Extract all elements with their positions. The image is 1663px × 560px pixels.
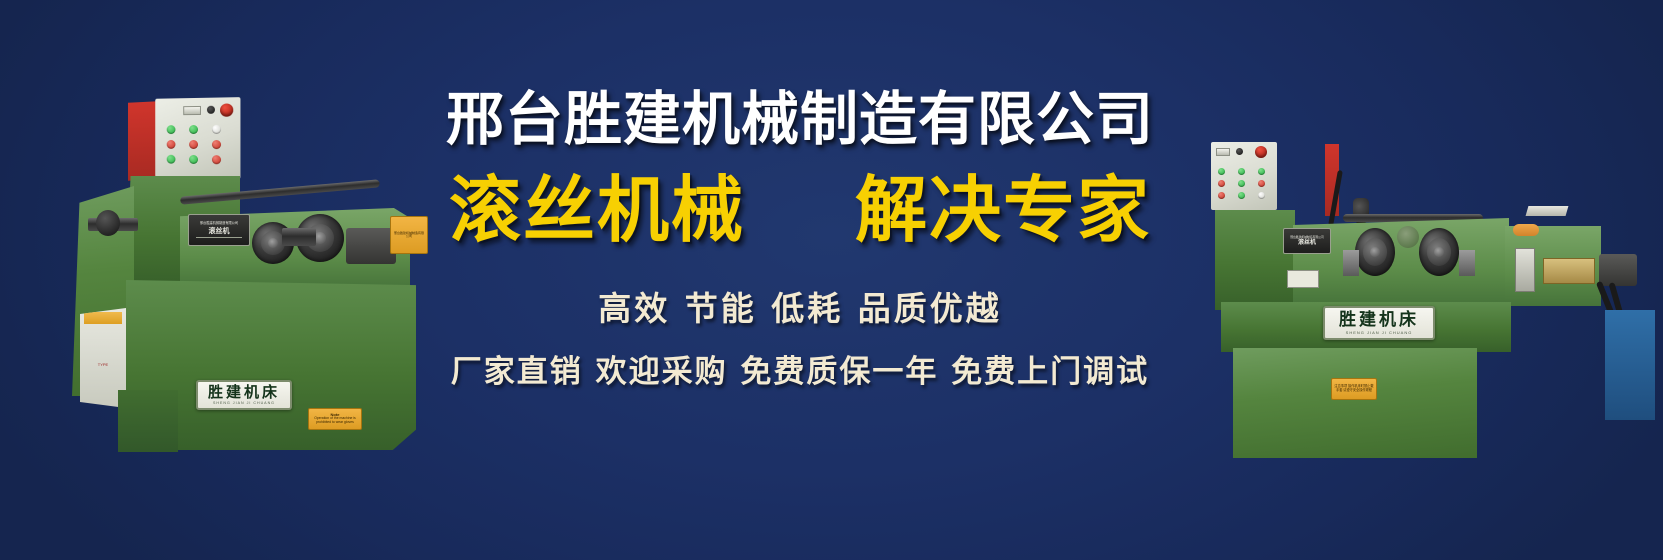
emergency-stop-button-right bbox=[1255, 146, 1267, 158]
panel-button-left bbox=[212, 125, 221, 134]
panel-button-right bbox=[1238, 180, 1245, 187]
machine-lubricant-manifold-right bbox=[1513, 224, 1539, 236]
panel-button-right bbox=[1218, 180, 1225, 187]
emergency-stop-button-left bbox=[220, 103, 233, 116]
hydraulic-tank-right bbox=[1605, 310, 1655, 420]
panel-button-right bbox=[1238, 168, 1245, 175]
machine-tool-tray-right bbox=[1526, 206, 1569, 216]
spec-plate-title-right: 滚丝机 bbox=[1298, 240, 1316, 246]
control-panel-backing-left bbox=[128, 101, 158, 181]
banner-text-block: 邢台胜建机械制造有限公司 滚丝机械 解决专家 高效 节能 低耗 品质优越 厂家直… bbox=[400, 88, 1200, 391]
panel-knob-left bbox=[207, 106, 215, 114]
panel-button-left bbox=[167, 125, 176, 134]
panel-meter-right bbox=[1216, 148, 1230, 156]
machine-base-right bbox=[1233, 348, 1477, 458]
machine-lower-skirt-left bbox=[118, 390, 178, 452]
machine-image-left: 邢台胜建机械制造有限公司 滚丝机 邢台胜建机械制造有限公司 TYPE 胜建机床 … bbox=[30, 90, 430, 490]
panel-knob-right bbox=[1236, 148, 1243, 155]
nameplate-cn-right: 胜建机床 bbox=[1339, 312, 1419, 329]
panel-button-right bbox=[1218, 192, 1225, 199]
warning-label-right: 注意事项 操作机床时禁止戴手套 请遵守安全操作规程 bbox=[1331, 378, 1377, 400]
spec-plate-right: 邢台胜建机械制造有限公司 滚丝机 bbox=[1283, 228, 1331, 254]
panel-button-left bbox=[167, 140, 176, 149]
machine-center-gear-right bbox=[1397, 226, 1419, 248]
panel-button-left bbox=[189, 155, 198, 164]
side-cabinet-text-left: TYPE bbox=[86, 362, 120, 367]
panel-button-right bbox=[1218, 168, 1225, 175]
control-panel-right bbox=[1211, 142, 1277, 210]
promotional-banner: 邢台胜建机械制造有限公司 滚丝机 邢台胜建机械制造有限公司 TYPE 胜建机床 … bbox=[0, 0, 1663, 560]
machine-motor-right bbox=[1599, 254, 1637, 286]
warning-label-text-left: Operation of the machine is prohibited t… bbox=[311, 417, 359, 425]
spec-plate-company-right: 邢台胜建机械制造有限公司 bbox=[1290, 236, 1324, 239]
spec-plate-title-left: 滚丝机 bbox=[209, 228, 230, 235]
nameplate-en-left: SHENG JIAN JI CHUANG bbox=[213, 402, 275, 406]
machine-fixture-right bbox=[1515, 248, 1535, 292]
warning-label-text-right: 注意事项 操作机床时禁止戴手套 请遵守安全操作规程 bbox=[1334, 385, 1374, 392]
panel-button-left bbox=[189, 140, 198, 149]
subline-benefits: 高效 节能 低耗 品质优越 bbox=[400, 282, 1200, 330]
panel-button-left bbox=[167, 155, 176, 164]
panel-meter-left bbox=[183, 106, 201, 115]
spec-plate-left: 邢台胜建机械制造有限公司 滚丝机 bbox=[188, 214, 250, 246]
roller-die-right-1 bbox=[1355, 228, 1395, 276]
machine-column-right bbox=[1215, 210, 1295, 310]
company-name: 邢台胜建机械制造有限公司 bbox=[400, 88, 1200, 151]
machine-motor-left bbox=[346, 228, 396, 264]
panel-button-right bbox=[1258, 192, 1265, 199]
headline-right: 解决专家 bbox=[855, 173, 1151, 249]
roller-die-right-2 bbox=[1419, 228, 1459, 276]
spec-plate-secondary-right bbox=[1287, 270, 1319, 288]
subline-services: 厂家直销 欢迎采购 免费质保一年 免费上门调试 bbox=[400, 346, 1200, 391]
panel-button-right bbox=[1258, 168, 1265, 175]
control-panel-left bbox=[155, 97, 240, 179]
panel-button-left bbox=[212, 155, 221, 164]
machine-brass-plate-right bbox=[1543, 258, 1595, 284]
headline-row: 滚丝机械 解决专家 bbox=[400, 173, 1200, 249]
panel-button-right bbox=[1238, 192, 1245, 199]
machine-rear-pulley-left bbox=[96, 210, 120, 236]
machine-center-shaft-left bbox=[282, 228, 316, 246]
machine-guide-block-right-2 bbox=[1459, 250, 1475, 276]
headline-left: 滚丝机械 bbox=[449, 173, 745, 249]
panel-button-left bbox=[189, 125, 198, 134]
panel-button-right bbox=[1258, 180, 1265, 187]
nameplate-left: 胜建机床 SHENG JIAN JI CHUANG bbox=[196, 380, 292, 410]
machine-image-right: 邢台胜建机械制造有限公司 滚丝机 胜建机床 SHENG JIAN JI CHUA… bbox=[1175, 130, 1655, 460]
nameplate-right: 胜建机床 SHENG JIAN JI CHUANG bbox=[1323, 306, 1435, 340]
spec-plate-rule-left bbox=[196, 237, 242, 238]
panel-button-left bbox=[212, 140, 221, 149]
nameplate-en-right: SHENG JIAN JI CHUANG bbox=[1346, 331, 1413, 335]
side-cabinet-label-strip-left bbox=[84, 312, 122, 324]
spec-plate-company-left: 邢台胜建机械制造有限公司 bbox=[200, 222, 238, 225]
nameplate-cn-left: 胜建机床 bbox=[208, 385, 280, 400]
warning-label-left: Note Operation of the machine is prohibi… bbox=[308, 408, 362, 430]
machine-guide-block-right-1 bbox=[1343, 250, 1359, 276]
